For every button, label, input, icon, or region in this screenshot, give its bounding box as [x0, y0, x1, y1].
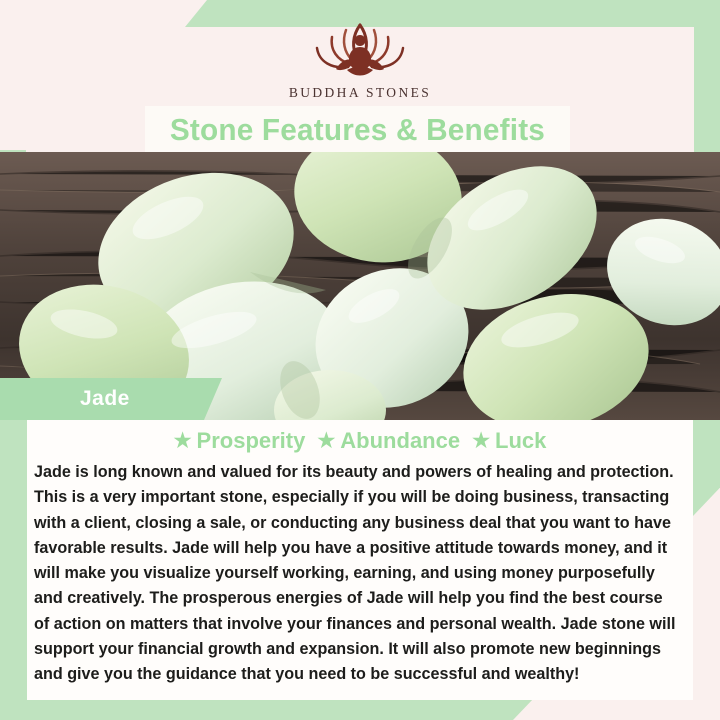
logo: BUDDHA STONES: [289, 17, 431, 101]
star-icon: ★: [317, 431, 335, 451]
lotus-meditation-icon: [300, 17, 420, 83]
benefit-item: ★ Luck: [472, 428, 546, 454]
benefit-label: Abundance: [340, 428, 460, 454]
page-title: Stone Features & Benefits: [170, 112, 545, 148]
decor-bottom-band: [0, 697, 535, 720]
stone-name: Jade: [80, 387, 130, 411]
title-banner: Stone Features & Benefits: [145, 106, 570, 154]
star-icon: ★: [472, 431, 490, 451]
brand-header: BUDDHA STONES: [0, 0, 720, 112]
stone-name-band: Jade: [0, 378, 222, 420]
brand-name: BUDDHA STONES: [289, 85, 431, 101]
benefit-label: Prosperity: [197, 428, 306, 454]
star-icon: ★: [174, 431, 192, 451]
benefit-item: ★ Abundance: [317, 428, 460, 454]
content-panel: ★ Prosperity ★ Abundance ★ Luck Jade is …: [27, 420, 693, 700]
decor-left-text-bar: [0, 395, 27, 700]
infographic-page: BUDDHA STONES Stone Features & Benefits: [0, 0, 720, 720]
stone-description: Jade is long known and valued for its be…: [34, 460, 677, 688]
benefit-label: Luck: [495, 428, 546, 454]
benefit-item: ★ Prosperity: [174, 428, 306, 454]
benefits-row: ★ Prosperity ★ Abundance ★ Luck: [27, 424, 693, 458]
